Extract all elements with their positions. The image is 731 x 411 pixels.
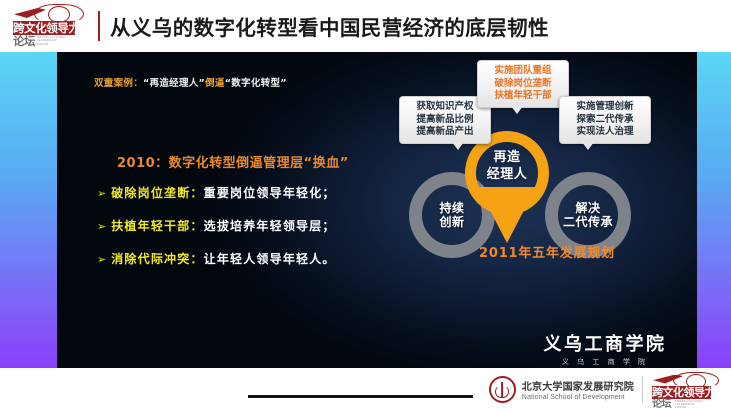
header-divider bbox=[98, 11, 100, 41]
bullet-key-3: 消除代际冲突： bbox=[111, 250, 203, 267]
bullet-item-1: ➢ 破除岗位垄断： 重要岗位领导年轻化； bbox=[97, 184, 427, 201]
arrow-marker-icon: ➢ bbox=[97, 189, 106, 200]
forum-logo-header: 跨文化领导力 论坛 CROSS-CULTURAL LEADERSHIP FORU… bbox=[12, 3, 90, 49]
college-watermark: 义乌工商学院 义 乌 工 商 学 院 bbox=[535, 330, 675, 367]
case-banner-quote-one: “再造经理人” bbox=[143, 78, 205, 89]
ring-left-label: 持续 创新 bbox=[439, 201, 464, 229]
plan-caption: 2011年五年发展规划 bbox=[397, 242, 697, 261]
forum-logo-sub-en: CROSS-CULTURAL LEADERSHIP FORUM bbox=[675, 400, 703, 409]
pku-name-cn: 北京大学国家发展研究院 bbox=[522, 378, 634, 393]
footer-divider bbox=[642, 377, 643, 403]
arrow-marker-icon: ➢ bbox=[97, 222, 106, 233]
pku-wordmark: 北京大学国家发展研究院 National School of Developme… bbox=[522, 378, 634, 401]
bullet-value-1: 重要岗位领导年轻化； bbox=[204, 184, 336, 201]
forum-logo-sub-en: CROSS-CULTURAL LEADERSHIP FORUM bbox=[37, 36, 66, 46]
ring-right-label: 解决 二代传承 bbox=[563, 201, 613, 229]
arrow-marker-icon: ➢ bbox=[97, 255, 106, 266]
bullet-item-3: ➢ 消除代际冲突： 让年轻人领导年轻人。 bbox=[97, 250, 427, 267]
bullet-value-3: 让年轻人领导年轻人。 bbox=[204, 250, 336, 267]
pku-seal-icon bbox=[489, 376, 516, 403]
forum-logo-brand-cn: 跨文化领导力 bbox=[652, 386, 711, 399]
map-pin-icon: 再造 经理人 bbox=[465, 131, 549, 243]
case-banner-quote-two: “数字化转型” bbox=[225, 78, 287, 89]
footer-rule bbox=[248, 395, 473, 398]
case-banner-middle: 倒逼 bbox=[205, 78, 225, 89]
forum-logo-brand-cn: 跨文化领导力 bbox=[13, 21, 75, 35]
pin-label: 再造 经理人 bbox=[465, 149, 549, 183]
gradient-bar-left bbox=[0, 52, 57, 368]
case-banner: 双童案例：“再造经理人”倒逼“数字化转型” bbox=[94, 75, 287, 89]
footer-logo-group: 北京大学国家发展研究院 National School of Developme… bbox=[489, 370, 725, 409]
presentation-slide: 双童案例：“再造经理人”倒逼“数字化转型” 2010：数字化转型倒逼管理层“换血… bbox=[57, 52, 697, 368]
bullet-key-1: 破除岗位垄断： bbox=[111, 184, 203, 201]
bullet-list: ➢ 破除岗位垄断： 重要岗位领导年轻化； ➢ 扶植年轻干部： 选拔培养年轻领导层… bbox=[97, 184, 427, 283]
college-name-sub: 义 乌 工 商 学 院 bbox=[535, 357, 675, 367]
callout-right: 实施管理创新 探索二代传承 实现法人治理 bbox=[559, 96, 651, 144]
forum-logo-sub-cn: 论坛 bbox=[652, 399, 671, 410]
forum-logo-sub-cn: 论坛 bbox=[13, 35, 35, 48]
slide-stage: 双童案例：“再造经理人”倒逼“数字化转型” 2010：数字化转型倒逼管理层“换血… bbox=[0, 52, 731, 368]
callout-center: 实施团队重组 破除岗位垄断 扶植年轻干部 bbox=[477, 60, 569, 108]
year-heading: 2010：数字化转型倒逼管理层“换血” bbox=[117, 152, 349, 171]
pku-name-en: National School of Development bbox=[522, 394, 634, 401]
bullet-key-2: 扶植年轻干部： bbox=[111, 217, 203, 234]
page-footer: 北京大学国家发展研究院 National School of Developme… bbox=[0, 368, 731, 411]
page-title: 从义乌的数字化转型看中国民营经济的底层韧性 bbox=[110, 11, 549, 41]
strategy-diagram: 获取知识产权 提高新品比例 提高新品产出 实施团队重组 破除岗位垄断 扶植年轻干… bbox=[397, 52, 697, 368]
bullet-item-2: ➢ 扶植年轻干部： 选拔培养年轻领导层； bbox=[97, 217, 427, 234]
case-banner-prefix: 双童案例： bbox=[94, 78, 143, 89]
bullet-value-2: 选拔培养年轻领导层； bbox=[204, 217, 336, 234]
page-header: 跨文化领导力 论坛 CROSS-CULTURAL LEADERSHIP FORU… bbox=[0, 0, 731, 52]
forum-logo-footer: 跨文化领导力 论坛 CROSS-CULTURAL LEADERSHIP FORU… bbox=[651, 371, 725, 409]
college-name-cn: 义乌工商学院 bbox=[535, 330, 675, 356]
gradient-bar-right bbox=[697, 52, 731, 368]
